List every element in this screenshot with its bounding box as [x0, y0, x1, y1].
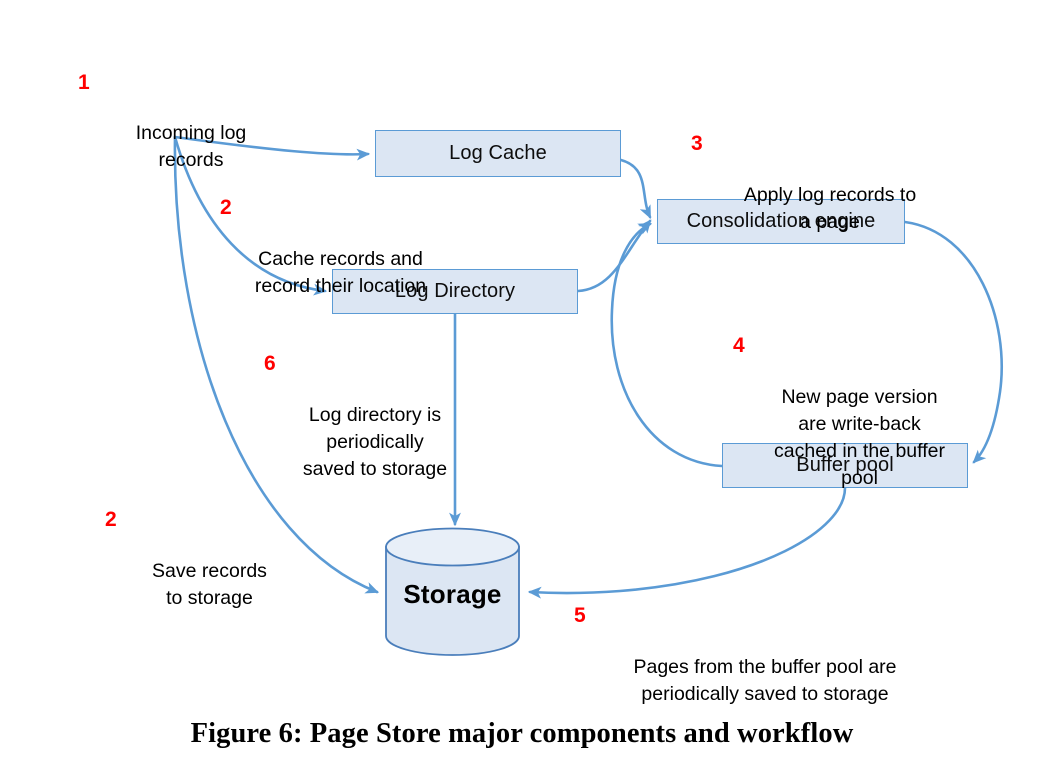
annotation-step-2-cache-text: Cache records and record their location — [228, 246, 453, 300]
annotation-step-2-save: 2 Save records to storage — [100, 504, 300, 612]
step-number-6: 6 — [264, 350, 276, 377]
annotation-step-2-save-text: Save records to storage — [122, 558, 297, 612]
edge-buffer-pool-to-consolidation — [612, 224, 722, 466]
edge-log-directory-to-consolidation — [578, 221, 650, 291]
annotation-step-5: 5 Pages from the buffer pool are periodi… — [566, 600, 946, 708]
annotation-step-6: 6 Log directory is periodically saved to… — [256, 348, 472, 483]
annotation-step-6-text: Log directory is periodically saved to s… — [280, 402, 470, 483]
edge-log-cache-to-consolidation — [621, 160, 650, 217]
step-number-2-cache: 2 — [220, 194, 232, 221]
figure-caption: Figure 6: Page Store major components an… — [0, 718, 1044, 750]
annotation-step-5-text: Pages from the buffer pool are periodica… — [590, 654, 940, 708]
node-storage-label: Storage — [384, 579, 521, 610]
edge-buffer-pool-to-storage — [530, 488, 845, 593]
annotation-step-1: 1 Incoming log records — [78, 66, 278, 174]
figure-diagram: Log Cache Consolidation engine Log Direc… — [0, 0, 1044, 784]
annotation-step-4: 4 New page version are write-back cached… — [726, 330, 974, 492]
step-number-2-save: 2 — [105, 506, 117, 533]
annotation-step-3-text: Apply log records to a page — [716, 182, 944, 236]
step-number-5: 5 — [574, 602, 586, 629]
annotation-step-2-cache: 2 Cache records and record their locatio… — [208, 192, 453, 300]
node-log-cache-label: Log Cache — [449, 142, 547, 165]
node-log-cache[interactable]: Log Cache — [375, 130, 621, 177]
annotation-step-4-text: New page version are write-back cached i… — [747, 384, 972, 492]
annotation-step-1-text: Incoming log records — [105, 120, 277, 174]
node-storage-cylinder[interactable]: Storage — [384, 527, 521, 656]
annotation-step-3: 3 Apply log records to a page — [686, 128, 946, 236]
step-number-4: 4 — [733, 332, 745, 359]
step-number-1: 1 — [78, 69, 90, 96]
step-number-3: 3 — [691, 130, 703, 157]
